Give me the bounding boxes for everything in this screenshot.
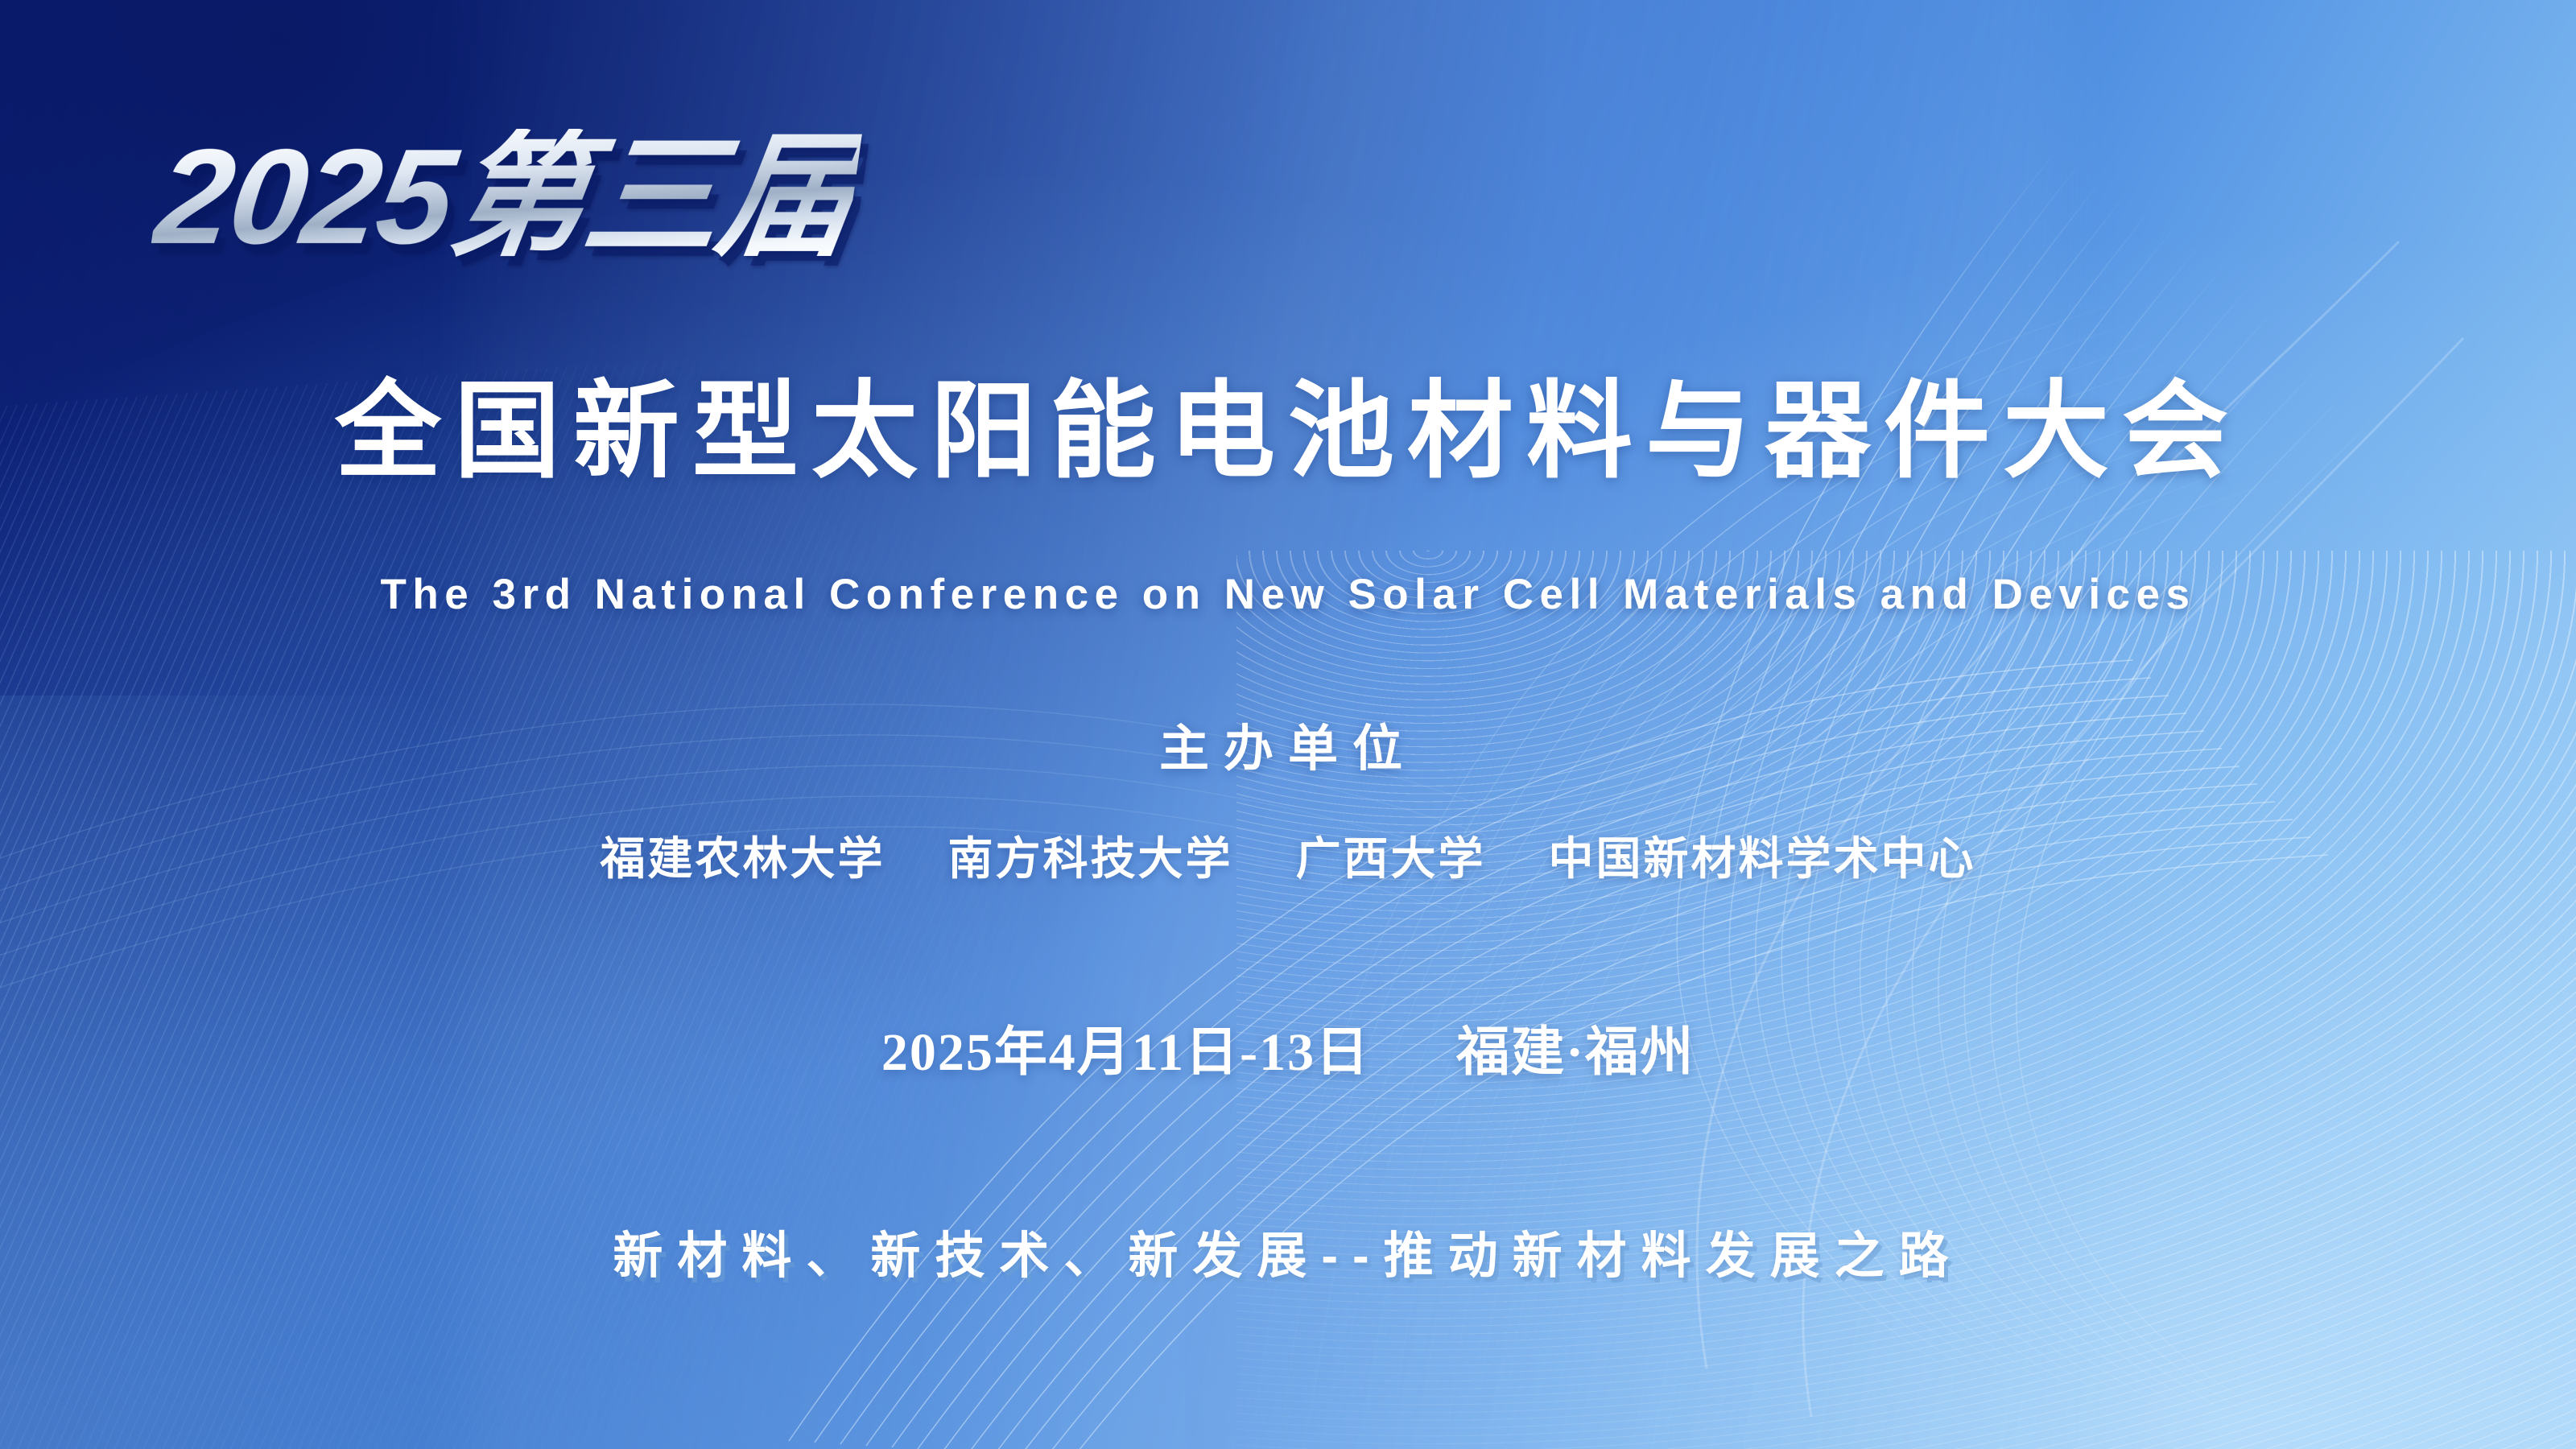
host-organization-list: 福建农林大学 南方科技大学 广西大学 中国新材料学术中心 (0, 837, 2576, 882)
host-organization: 广西大学 (1296, 835, 1486, 885)
date-and-location: 2025年4月11日-13日 福建·福州 (0, 1026, 2576, 1080)
host-section-label: 主办单位 (0, 724, 2576, 774)
host-organization: 中国新材料学术中心 (1549, 835, 1976, 885)
page-subtitle-english: The 3rd National Conference on New Solar… (0, 573, 2576, 616)
event-location: 福建·福州 (1456, 1023, 1695, 1082)
event-date: 2025年4月11日-13日 (881, 1023, 1370, 1082)
host-organization: 福建农林大学 (601, 835, 885, 885)
conference-poster: 2025第三届 全国新型太阳能电池材料与器件大会 The 3rd Nationa… (0, 0, 2576, 1449)
event-slogan: 新材料、新技术、新发展--推动新材料发展之路 (0, 1232, 2576, 1282)
headline-year-edition: 2025第三届 (148, 129, 862, 264)
page-title: 全国新型太阳能电池材料与器件大会 (0, 378, 2576, 485)
host-organization: 南方科技大学 (948, 835, 1233, 885)
